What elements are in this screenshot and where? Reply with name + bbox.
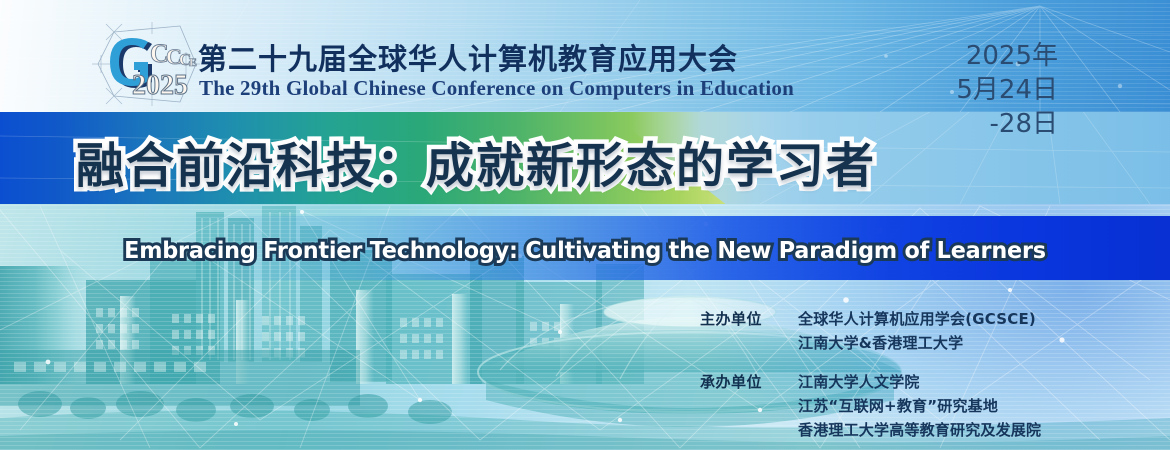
conference-title-chinese: 第二十九届全球华人计算机教育应用大会: [198, 36, 738, 78]
organizer-host-line-2: 江南大学&香港理工大学: [798, 332, 1036, 356]
date-line-year: 2025年: [956, 40, 1058, 74]
conference-theme-english: Embracing Frontier Technology: Cultivati…: [18, 238, 1153, 264]
gccce-hexagon-logo-icon: C C C E 2025: [92, 22, 202, 106]
organizer-coorg-line-2: 江苏“互联网+教育”研究基地: [798, 395, 1041, 419]
conference-date: 2025年 5月24日 -28日: [956, 40, 1058, 141]
organizer-info: 主办单位 全球华人计算机应用学会(GCSCE) 江南大学&香港理工大学 承办单位…: [700, 308, 1041, 450]
organizer-row-coorganizer: 承办单位 江南大学人文学院 江苏“互联网+教育”研究基地 香港理工大学高等教育研…: [700, 371, 1041, 442]
organizer-coorg-line-1: 江南大学人文学院: [798, 371, 1041, 395]
organizer-coorg-line-3: 香港理工大学高等教育研究及发展院: [798, 419, 1041, 443]
svg-text:2025: 2025: [132, 70, 188, 101]
organizer-label-host: 主办单位: [700, 308, 792, 355]
organizer-values-host: 全球华人计算机应用学会(GCSCE) 江南大学&香港理工大学: [798, 308, 1036, 355]
date-line-start: 5月24日: [956, 74, 1058, 108]
conference-theme-chinese: 融合前沿科技：成就新形态的学习者: [76, 126, 876, 196]
organizer-row-host: 主办单位 全球华人计算机应用学会(GCSCE) 江南大学&香港理工大学: [700, 308, 1041, 355]
conference-title-english: The 29th Global Chinese Conference on Co…: [199, 76, 794, 101]
gccce-logo: C C C E 2025: [92, 22, 202, 106]
date-line-end: -28日: [956, 108, 1058, 142]
conference-banner: C C C E 2025 第二十九届全球华人计算机教育应用大会 The 29th…: [0, 0, 1170, 450]
organizer-host-line-1: 全球华人计算机应用学会(GCSCE): [798, 308, 1036, 332]
organizer-label-coorganizer: 承办单位: [700, 371, 792, 442]
organizer-values-coorganizer: 江南大学人文学院 江苏“互联网+教育”研究基地 香港理工大学高等教育研究及发展院: [798, 371, 1041, 442]
svg-text:E: E: [189, 55, 197, 69]
